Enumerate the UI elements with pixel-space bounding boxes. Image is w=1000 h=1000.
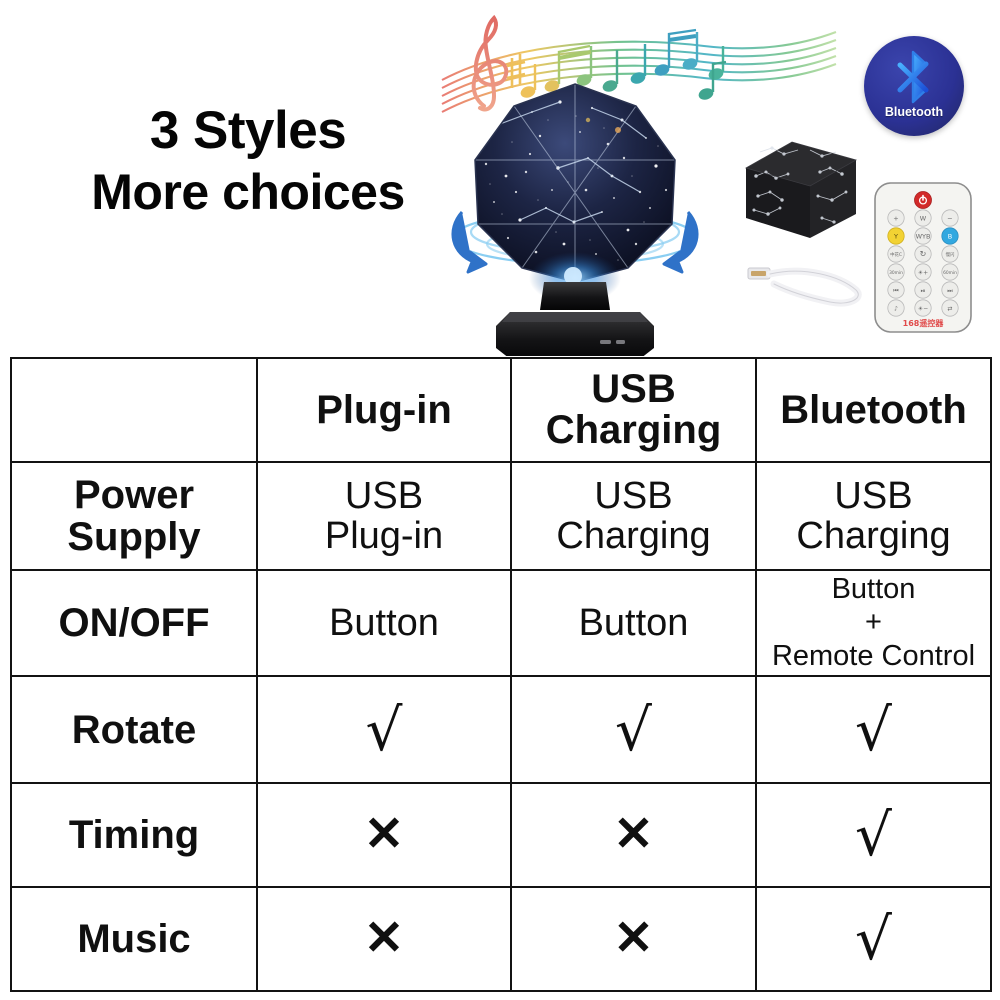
table-header-row: Plug-in USB Charging Bluetooth (11, 358, 991, 462)
cell-rotate-plug-in: √ (257, 676, 511, 783)
svg-text:♪: ♪ (894, 305, 898, 312)
cell-on-off-bluetooth-line2: + (761, 606, 986, 639)
cell-on-off-plug-in: Button (257, 570, 511, 676)
cell-music-usb-charging: ✕ (511, 887, 756, 991)
headline-line-2: More choices (48, 163, 448, 222)
cell-on-off-bluetooth-line1: Button (761, 573, 986, 606)
table-row-on-off: ON/OFF Button Button Button + Remote Con… (11, 570, 991, 676)
comparison-table: Plug-in USB Charging Bluetooth Power Sup… (10, 357, 992, 992)
column-header-bluetooth-line1: Bluetooth (761, 390, 986, 431)
infographic-root: 3 Styles More choices (0, 0, 1000, 1000)
svg-text:⏮: ⏮ (893, 287, 899, 294)
bluetooth-icon (892, 50, 936, 104)
svg-text:☀−: ☀− (918, 305, 928, 312)
svg-text:−: − (947, 214, 952, 222)
cell-timing-bluetooth: √ (756, 783, 991, 887)
cell-power-supply-usb-charging: USB Charging (511, 462, 756, 570)
remote-control-image: +W− YWYB B 中花C ↻ 慢闪 30min ☀+ 60min ⏮ ⏯ ⏭… (872, 180, 974, 335)
row-label-music-line1: Music (16, 918, 252, 960)
bluetooth-badge: Bluetooth (864, 36, 964, 136)
cell-music-plug-in: ✕ (257, 887, 511, 991)
cell-music-bluetooth: √ (756, 887, 991, 991)
cell-power-supply-bluetooth-line1: USB (761, 476, 986, 516)
svg-text:Y: Y (893, 232, 898, 240)
svg-text:B: B (948, 232, 952, 240)
remote-model-label: 168遥控器 (903, 318, 945, 328)
row-label-on-off-line1: ON/OFF (16, 602, 252, 644)
headline-line-1: 3 Styles (48, 100, 448, 163)
cell-timing-plug-in: ✕ (257, 783, 511, 887)
cell-timing-usb-charging: ✕ (511, 783, 756, 887)
row-label-timing: Timing (11, 783, 257, 887)
column-header-usb-charging-line2: Charging (516, 410, 751, 451)
svg-text:30min: 30min (889, 270, 903, 276)
row-label-rotate: Rotate (11, 676, 257, 783)
row-label-rotate-line1: Rotate (16, 709, 252, 751)
cell-power-supply-plug-in: USB Plug-in (257, 462, 511, 570)
svg-text:60min: 60min (943, 270, 957, 276)
cell-on-off-plug-in-line1: Button (262, 603, 506, 643)
row-label-power-supply-line2: Supply (16, 516, 252, 558)
cell-power-supply-bluetooth: USB Charging (756, 462, 991, 570)
cell-power-supply-usb-charging-line2: Charging (516, 516, 751, 556)
svg-text:↻: ↻ (920, 250, 927, 259)
svg-text:慢闪: 慢闪 (946, 251, 955, 258)
gift-box-image (738, 134, 862, 246)
svg-text:+: + (893, 214, 898, 222)
table-row-rotate: Rotate √ √ √ (11, 676, 991, 783)
cell-on-off-usb-charging: Button (511, 570, 756, 676)
cell-on-off-bluetooth-line3: Remote Control (761, 640, 986, 673)
row-label-music: Music (11, 887, 257, 991)
column-header-plug-in-line1: Plug-in (262, 390, 506, 431)
bluetooth-badge-label: Bluetooth (885, 105, 943, 119)
cell-on-off-bluetooth: Button + Remote Control (756, 570, 991, 676)
column-header-usb-charging-line1: USB (516, 369, 751, 410)
table-row-power-supply: Power Supply USB Plug-in USB Charging US… (11, 462, 991, 570)
cell-rotate-bluetooth: √ (756, 676, 991, 783)
cell-power-supply-bluetooth-line2: Charging (761, 516, 986, 556)
table-corner-cell (11, 358, 257, 462)
cell-rotate-usb-charging: √ (511, 676, 756, 783)
cell-power-supply-usb-charging-line1: USB (516, 476, 751, 516)
svg-text:⇄: ⇄ (947, 305, 952, 312)
svg-text:⏯: ⏯ (921, 287, 926, 294)
svg-text:W: W (920, 214, 927, 222)
table-row-timing: Timing ✕ ✕ √ (11, 783, 991, 887)
svg-text:中花C: 中花C (890, 251, 902, 258)
row-label-power-supply: Power Supply (11, 462, 257, 570)
column-header-plug-in: Plug-in (257, 358, 511, 462)
svg-text:⏭: ⏭ (947, 287, 953, 294)
column-header-usb-charging: USB Charging (511, 358, 756, 462)
star-projector-lamp-image (440, 72, 710, 356)
usb-cable-image (744, 250, 870, 310)
cell-on-off-usb-charging-line1: Button (516, 603, 751, 643)
column-header-bluetooth: Bluetooth (756, 358, 991, 462)
svg-text:WYB: WYB (916, 232, 931, 240)
hero-section: 3 Styles More choices (0, 0, 1000, 356)
cell-power-supply-plug-in-line1: USB (262, 476, 506, 516)
svg-text:☀+: ☀+ (918, 269, 928, 276)
row-label-power-supply-line1: Power (16, 474, 252, 516)
page-title: 3 Styles More choices (48, 100, 448, 222)
cell-power-supply-plug-in-line2: Plug-in (262, 516, 506, 556)
table-row-music: Music ✕ ✕ √ (11, 887, 991, 991)
row-label-on-off: ON/OFF (11, 570, 257, 676)
row-label-timing-line1: Timing (16, 814, 252, 856)
